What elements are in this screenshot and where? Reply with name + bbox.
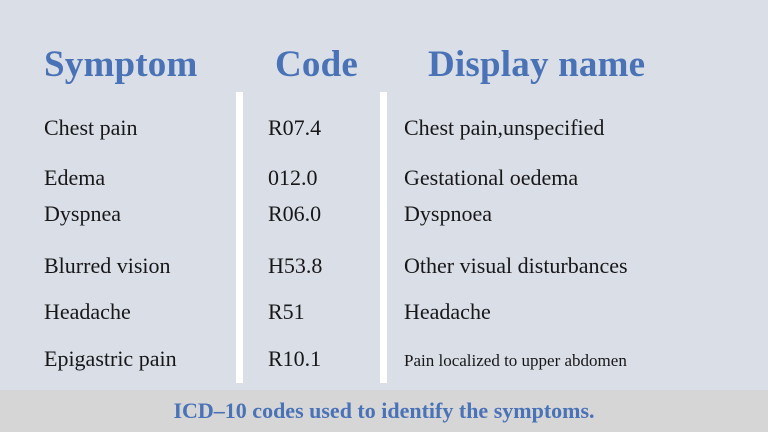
- table-row: Epigastric pain: [44, 348, 177, 370]
- figure-caption: ICD–10 codes used to identify the sympto…: [173, 400, 594, 422]
- table-row: Headache: [404, 301, 491, 323]
- table-row: R07.4: [268, 117, 321, 139]
- table-row: R06.0: [268, 203, 321, 225]
- table-row: Chest pain,unspecified: [404, 117, 604, 139]
- table-row: Headache: [44, 301, 131, 323]
- table-row: R10.1: [268, 348, 321, 370]
- table-row: Chest pain: [44, 117, 138, 139]
- table-row: H53.8: [268, 255, 322, 277]
- table-row: Other visual disturbances: [404, 255, 628, 277]
- table-row: Gestational oedema: [404, 167, 578, 189]
- column-separator-1: [236, 92, 243, 383]
- table-row: Dyspnoea: [404, 203, 492, 225]
- table-row: R51: [268, 301, 305, 323]
- column-header-display-name: Display name: [428, 46, 645, 83]
- table-row: Edema: [44, 167, 105, 189]
- table-row: Dyspnea: [44, 203, 121, 225]
- slide-root: Symptom Code Display name Chest pain R07…: [0, 0, 768, 432]
- icd-code-table: Symptom Code Display name Chest pain R07…: [0, 0, 768, 390]
- column-separator-2: [380, 92, 387, 383]
- table-row: Blurred vision: [44, 255, 171, 277]
- table-row: 012.0: [268, 167, 318, 189]
- caption-band: ICD–10 codes used to identify the sympto…: [0, 390, 768, 432]
- table-row: Pain localized to upper abdomen: [404, 352, 627, 369]
- column-header-code: Code: [275, 46, 358, 83]
- column-header-symptom: Symptom: [44, 46, 198, 83]
